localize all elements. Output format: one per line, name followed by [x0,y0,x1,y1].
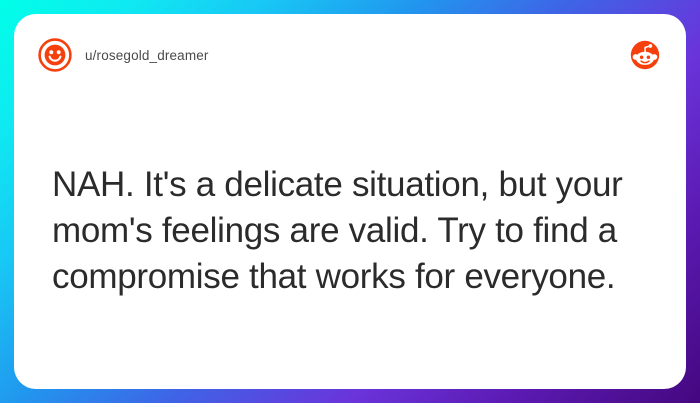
avatar[interactable] [38,38,72,72]
comment-header: u/rosegold_dreamer [14,14,686,96]
comment-body-text: NAH. It's a delicate situation, but your… [52,162,652,300]
brand-logo-button[interactable] [630,40,660,70]
smiley-face-icon [38,38,72,72]
gradient-background: u/rosegold_dreamer [0,0,700,403]
reddit-snoo-icon [630,40,660,70]
reddit-comment-card: u/rosegold_dreamer [14,14,686,389]
author-username[interactable]: u/rosegold_dreamer [85,48,209,63]
